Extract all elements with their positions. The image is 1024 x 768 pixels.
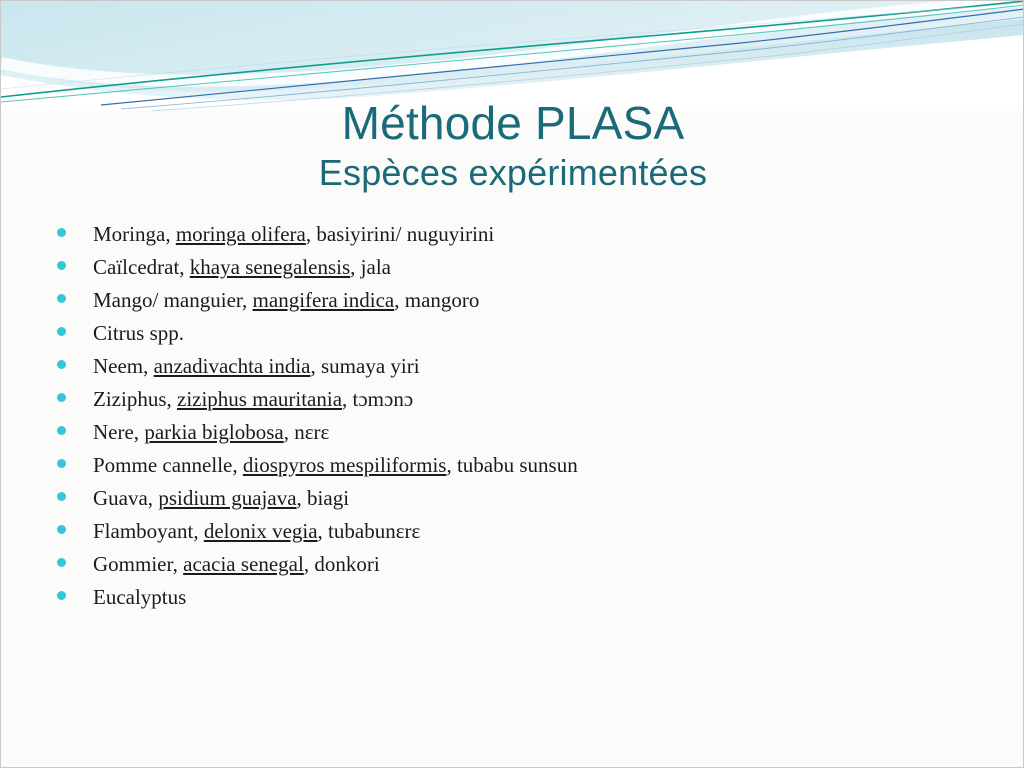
page-title: Méthode PLASA [1,97,1024,149]
page-subtitle: Espèces expérimentées [1,151,1024,195]
bullet-dot-icon [57,426,66,435]
banner-blue-curve-2 [121,17,1024,109]
list-item: Moringa, moringa olifera, basiyirini/ nu… [57,221,987,254]
banner-teal-curve-2 [1,5,1024,102]
species-binomial: delonix vegia [204,519,318,543]
list-item-text: Moringa, moringa olifera, basiyirini/ nu… [93,221,494,247]
species-binomial: psidium guajava [158,486,296,510]
list-item: Caïlcedrat, khaya senegalensis, jala [57,254,987,287]
list-item: Citrus spp. [57,320,987,353]
bullet-dot-icon [57,525,66,534]
list-item: Flamboyant, delonix vegia, tubabunɛrɛ [57,518,987,551]
list-item: Gommier, acacia senegal, donkori [57,551,987,584]
banner-wash-shape-2 [1,1,1024,92]
species-binomial: parkia biglobosa [144,420,283,444]
banner-blue-curve [101,9,1024,105]
bullet-dot-icon [57,294,66,303]
bullet-dot-icon [57,327,66,336]
species-binomial: mangifera indica [253,288,395,312]
list-item-text: Mango/ manguier, mangifera indica, mango… [93,287,479,313]
bullet-dot-icon [57,261,66,270]
title-block: Méthode PLASA Espèces expérimentées [1,97,1024,195]
species-binomial: diospyros mespiliformis [243,453,447,477]
list-item: Eucalyptus [57,584,987,617]
bullet-dot-icon [57,228,66,237]
species-binomial: moringa olifera [176,222,306,246]
list-item: Ziziphus, ziziphus mauritania, tɔmɔnɔ [57,386,987,419]
list-item-text: Citrus spp. [93,320,184,346]
list-item-text: Eucalyptus [93,584,186,610]
species-binomial: acacia senegal [183,552,304,576]
list-item-text: Pomme cannelle, diospyros mespiliformis,… [93,452,578,478]
list-item-text: Flamboyant, delonix vegia, tubabunɛrɛ [93,518,420,544]
bullet-dot-icon [57,492,66,501]
list-item: Nere, parkia biglobosa, nɛrɛ [57,419,987,452]
species-binomial: khaya senegalensis [190,255,350,279]
list-item-text: Nere, parkia biglobosa, nɛrɛ [93,419,329,445]
decorative-header-banner [1,1,1024,111]
list-item: Guava, psidium guajava, biagi [57,485,987,518]
species-binomial: anzadivachta india [154,354,311,378]
list-item-text: Guava, psidium guajava, biagi [93,485,349,511]
bullet-dot-icon [57,360,66,369]
list-item: Neem, anzadivachta india, sumaya yiri [57,353,987,386]
species-binomial: ziziphus mauritania [177,387,342,411]
list-item-text: Ziziphus, ziziphus mauritania, tɔmɔnɔ [93,386,413,412]
banner-wash-shape [1,1,1024,100]
list-item: Mango/ manguier, mangifera indica, mango… [57,287,987,320]
list-item-text: Gommier, acacia senegal, donkori [93,551,380,577]
banner-pale-curve-2 [1,3,1024,89]
list-item-text: Caïlcedrat, khaya senegalensis, jala [93,254,391,280]
bullet-dot-icon [57,459,66,468]
banner-teal-curve [1,1,1024,97]
species-list: Moringa, moringa olifera, basiyirini/ nu… [57,221,987,617]
bullet-dot-icon [57,591,66,600]
list-item-text: Neem, anzadivachta india, sumaya yiri [93,353,420,379]
presentation-slide: Méthode PLASA Espèces expérimentées Mori… [0,0,1024,768]
list-item: Pomme cannelle, diospyros mespiliformis,… [57,452,987,485]
banner-white-swoosh [1,1,1024,81]
bullet-dot-icon [57,393,66,402]
bullet-dot-icon [57,558,66,567]
